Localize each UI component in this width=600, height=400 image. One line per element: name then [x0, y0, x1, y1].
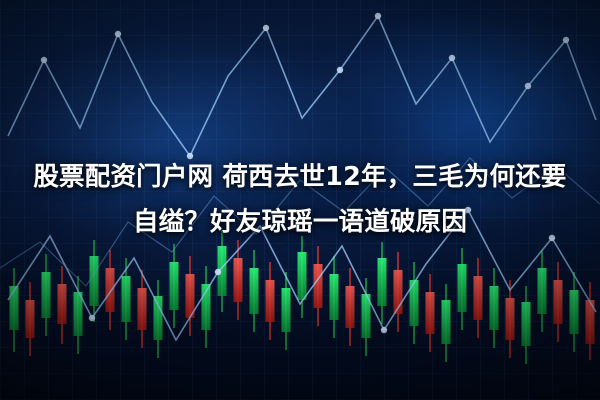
image-canvas: 股票配资门户网 荷西去世12年，三毛为何还要自缢？好友琼瑶一语道破原因	[0, 0, 600, 400]
vignette-overlay	[0, 0, 600, 400]
